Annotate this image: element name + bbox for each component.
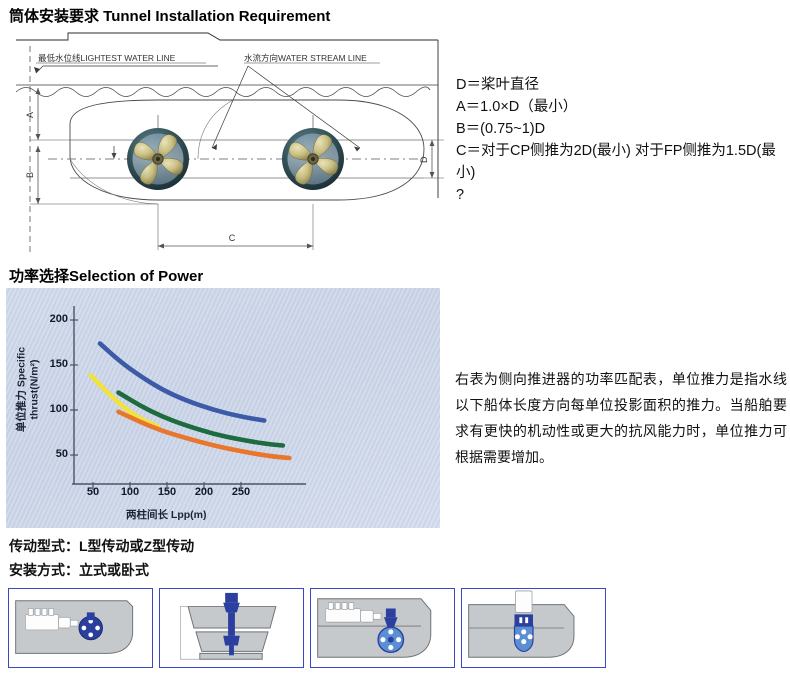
dimension-b: B [25, 172, 35, 178]
thumbnail-horizontal-engine-thruster[interactable] [8, 588, 153, 668]
power-selection-note: 右表为侧向推进器的功率匹配表，单位推力是指水线以下船体长度方向每单位投影面积的推… [455, 366, 787, 470]
formula-line-extra: ? [456, 184, 786, 206]
spec-drive-type: 传动型式：L型传动或Z型传动 [9, 536, 194, 556]
page-title-power: 功率选择Selection of Power [9, 265, 203, 286]
formula-block: D＝桨叶直径 A＝1.0×D（最小） B＝(0.75~1)D C＝对于CP侧推为… [456, 74, 786, 206]
specific-thrust-chart: 单位推力 Specific thrust(N/m²) 两柱间长 Lpp(m) 2… [6, 288, 440, 528]
thumbnail-engine-vertical-thruster[interactable] [310, 588, 455, 668]
page-title-tunnel: 筒体安装要求 Tunnel Installation Requirement [9, 5, 330, 26]
thumbnail-vertical-z-drive[interactable] [159, 588, 304, 668]
label-lightest-water-line: 最低水位线LIGHTEST WATER LINE [38, 53, 176, 63]
thumbnail-vertical-thruster-unit[interactable] [461, 588, 606, 668]
tunnel-installation-drawing: 最低水位线LIGHTEST WATER LINE 水流方向WATER STREA… [8, 28, 448, 260]
dimension-c: C [229, 233, 236, 243]
chart-plot-area [6, 288, 440, 528]
formula-line-d: D＝桨叶直径 [456, 74, 786, 96]
label-water-stream-line: 水流方向WATER STREAM LINE [244, 53, 367, 63]
dimension-a: A [25, 112, 35, 118]
spec-mount-type: 安装方式：立式或卧式 [9, 560, 149, 580]
formula-line-c: C＝对于CP侧推为2D(最小) 对于FP侧推为1.5D(最小) [456, 140, 786, 184]
formula-line-a: A＝1.0×D（最小） [456, 96, 786, 118]
dimension-d: D [419, 156, 429, 163]
formula-line-b: B＝(0.75~1)D [456, 118, 786, 140]
installation-thumbnail-row [8, 588, 606, 668]
